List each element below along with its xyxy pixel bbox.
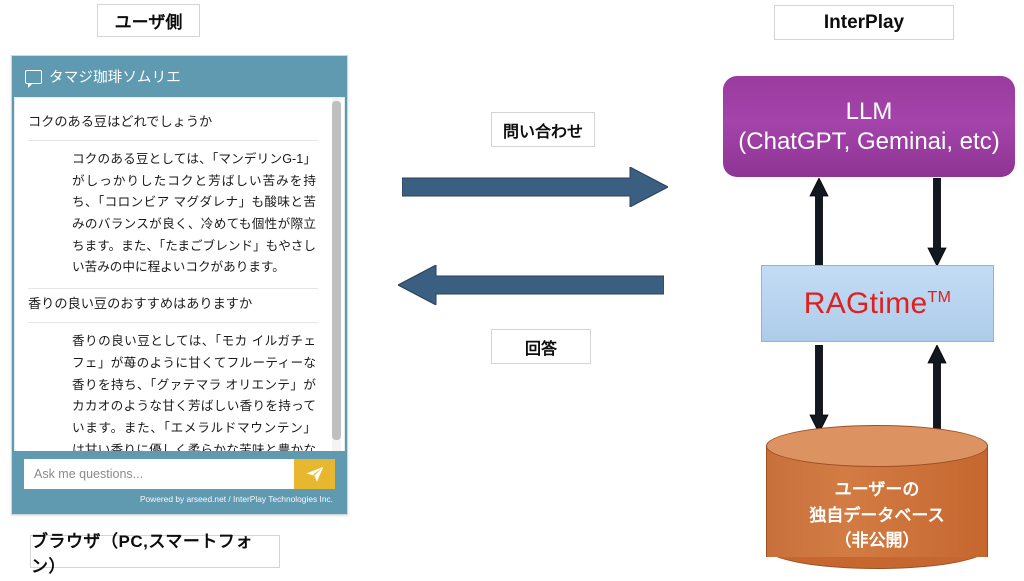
chat-scroll-area: コクのある豆はどれでしょうか コクのある豆としては、「マンデリンG-1」がしっか… bbox=[15, 98, 344, 451]
label-answer: 回答 bbox=[491, 329, 591, 364]
node-ragtime: RAGtimeTM bbox=[761, 265, 994, 342]
chat-message-user: コクのある豆はどれでしょうか bbox=[28, 107, 318, 141]
node-llm-line2: (ChatGPT, Geminai, etc) bbox=[738, 127, 999, 156]
chat-widget-footer: Powered by arseed.net / InterPlay Techno… bbox=[12, 451, 347, 514]
diagram-canvas: ユーザ側 タマジ珈琲ソムリエ コクのある豆はどれでしょうか コクのある豆としては… bbox=[0, 0, 1024, 581]
chat-scrollbar-thumb[interactable] bbox=[332, 101, 341, 440]
chat-message-bot: コクのある豆としては、「マンデリンG-1」がしっかりしたコクと芳ばしい苦みを持ち… bbox=[28, 141, 318, 289]
chat-scrollbar[interactable] bbox=[332, 98, 341, 451]
node-llm: LLM (ChatGPT, Geminai, etc) bbox=[723, 76, 1015, 177]
chat-widget-title: タマジ珈琲ソムリエ bbox=[49, 66, 181, 87]
chat-widget-header: タマジ珈琲ソムリエ bbox=[12, 56, 347, 97]
powered-by-text: Powered by arseed.net / InterPlay Techno… bbox=[24, 494, 335, 504]
label-interplay: InterPlay bbox=[774, 5, 954, 40]
node-ragtime-name: RAGtime bbox=[804, 287, 928, 320]
arrow-llm-ragtime-up bbox=[808, 178, 830, 266]
chat-input-row bbox=[24, 459, 335, 489]
database-label-line2: 独自データベース bbox=[766, 503, 988, 529]
database-label: ユーザーの 独自データベース （非公開） bbox=[766, 477, 988, 554]
arrow-llm-ragtime-down bbox=[926, 178, 948, 266]
chat-message-list: コクのある豆はどれでしょうか コクのある豆としては、「マンデリンG-1」がしっか… bbox=[14, 97, 345, 451]
node-database: ユーザーの 独自データベース （非公開） bbox=[766, 425, 988, 573]
database-cylinder-top bbox=[766, 425, 988, 467]
chat-message-bot: 香りの良い豆としては、「モカ イルガチェフェ」が苺のように甘くてフルーティーな香… bbox=[28, 323, 318, 451]
database-label-line1: ユーザーの bbox=[766, 477, 988, 503]
node-llm-line1: LLM bbox=[846, 97, 893, 126]
node-ragtime-trademark: TM bbox=[928, 289, 952, 306]
send-paper-plane-icon bbox=[304, 463, 326, 485]
label-inquiry: 問い合わせ bbox=[491, 112, 595, 147]
label-browser: ブラウザ（PC,スマートフォン） bbox=[30, 535, 280, 568]
chat-input[interactable] bbox=[24, 459, 294, 489]
chat-widget: タマジ珈琲ソムリエ コクのある豆はどれでしょうか コクのある豆としては、「マンデ… bbox=[11, 55, 348, 515]
arrow-ragtime-db-down bbox=[808, 345, 830, 433]
database-label-line3: （非公開） bbox=[766, 528, 988, 554]
speech-bubble-icon bbox=[25, 70, 42, 84]
arrow-ragtime-db-up bbox=[926, 345, 948, 433]
arrow-answer-left bbox=[398, 265, 664, 305]
chat-message-user: 香りの良い豆のおすすめはありますか bbox=[28, 289, 318, 323]
send-button[interactable] bbox=[294, 459, 335, 489]
arrow-inquiry-right bbox=[402, 167, 668, 207]
node-ragtime-label: RAGtimeTM bbox=[804, 287, 952, 321]
label-user-side: ユーザ側 bbox=[97, 4, 200, 37]
